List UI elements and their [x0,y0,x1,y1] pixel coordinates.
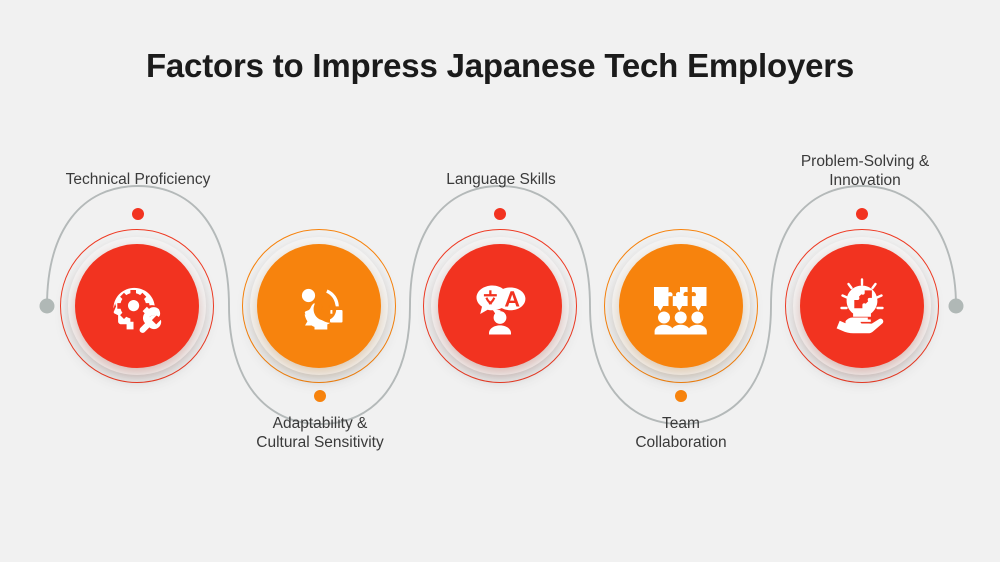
step-label-2-line1: Adaptability & [190,414,450,433]
infographic-root: Factors to Impress Japanese Tech Employe… [0,0,1000,562]
step-node-3[interactable] [423,229,583,389]
step-disc-4 [619,244,743,368]
step-label-4-line2: Collaboration [551,433,811,452]
lightbulb-puzzle-hand-icon [826,270,898,342]
head-gear-wrench-icon [101,270,173,342]
step-disc-3 [438,244,562,368]
diagram-stage: Technical Proficiency [0,0,1000,562]
path-start-dot [40,299,55,314]
step-node-5[interactable] [785,229,945,389]
step-disc-5 [800,244,924,368]
path-end-dot [949,299,964,314]
step-label-5: Problem-Solving & Innovation [735,152,995,190]
step-label-4: Team Collaboration [551,414,811,452]
step-disc-1 [75,244,199,368]
step-label-5-line2: Innovation [735,171,995,190]
step-label-2-line2: Cultural Sensitivity [190,433,450,452]
step-label-2: Adaptability & Cultural Sensitivity [190,414,450,452]
step-label-1-text: Technical Proficiency [66,171,211,188]
step-marker-dot-2 [314,390,326,402]
step-node-1[interactable] [60,229,220,389]
step-marker-dot-1 [132,208,144,220]
step-node-4[interactable] [604,229,764,389]
translate-speech-person-icon [465,271,535,341]
step-marker-dot-3 [494,208,506,220]
step-label-1: Technical Proficiency [8,170,268,189]
head-settings-shapes-icon [283,270,355,342]
step-label-4-line1: Team [551,414,811,433]
step-marker-dot-5 [856,208,868,220]
step-label-3: Language Skills [371,170,631,189]
step-label-3-text: Language Skills [446,171,555,188]
step-node-2[interactable] [242,229,402,389]
step-label-5-line1: Problem-Solving & [735,152,995,171]
puzzle-team-people-icon [645,270,717,342]
step-marker-dot-4 [675,390,687,402]
step-disc-2 [257,244,381,368]
